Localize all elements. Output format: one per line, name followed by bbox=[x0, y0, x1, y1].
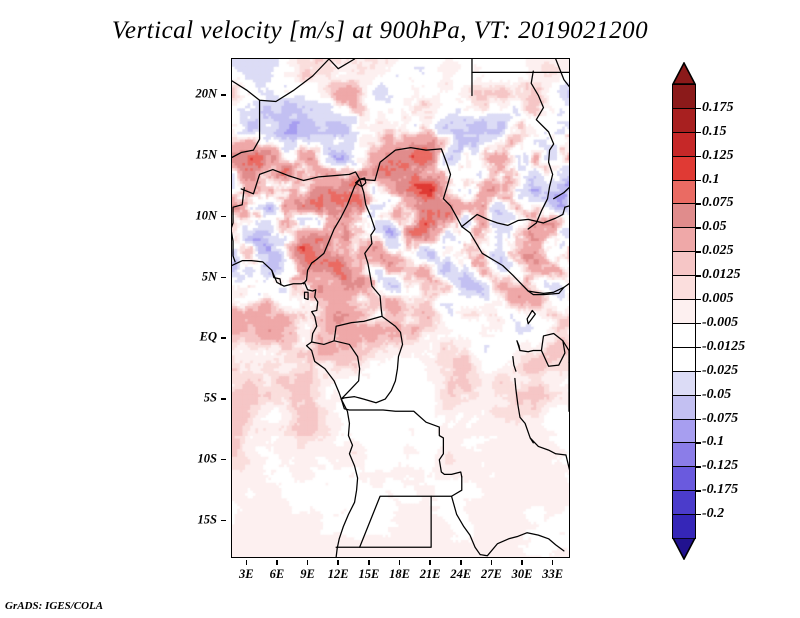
ytick-mark bbox=[221, 459, 226, 461]
xtick-label-30e: 30E bbox=[512, 567, 533, 582]
colorbar-band bbox=[672, 514, 696, 539]
ytick-label-20n: 20N bbox=[195, 87, 217, 102]
xtick-mark bbox=[399, 560, 401, 565]
colorbar-tick-label: 0.005 bbox=[702, 291, 734, 307]
xtick-label-18e: 18E bbox=[389, 567, 410, 582]
page-title: Vertical velocity [m/s] at 900hPa, VT: 2… bbox=[0, 17, 760, 45]
colorbar-band bbox=[672, 156, 696, 181]
colorbar-band bbox=[672, 203, 696, 228]
colorbar-band bbox=[672, 347, 696, 372]
country-border-line bbox=[452, 496, 481, 554]
colorbar-band bbox=[672, 275, 696, 300]
colorbar-band bbox=[672, 395, 696, 420]
country-border-line bbox=[462, 207, 565, 226]
country-border-line bbox=[232, 188, 244, 262]
country-border-line bbox=[556, 59, 569, 168]
colorbar-band bbox=[672, 490, 696, 515]
colorbar-band bbox=[672, 251, 696, 276]
colorbar-tick-mark bbox=[696, 299, 701, 300]
colorbar-tick-mark bbox=[696, 514, 701, 515]
colorbar-tick-mark bbox=[696, 156, 701, 157]
colorbar-tick-mark bbox=[696, 132, 701, 133]
ytick-label-10n: 10N bbox=[195, 208, 217, 223]
country-border-line bbox=[515, 378, 533, 442]
colorbar-tick-mark bbox=[696, 466, 701, 467]
xtick-mark bbox=[491, 560, 493, 565]
colorbar-tick-label: -0.075 bbox=[702, 411, 738, 427]
country-border-line bbox=[329, 59, 355, 69]
chart-root: Vertical velocity [m/s] at 900hPa, VT: 2… bbox=[0, 0, 800, 618]
country-border-line bbox=[530, 438, 566, 455]
colorbar-tick-label: 0.1 bbox=[702, 172, 720, 188]
xtick-label-15e: 15E bbox=[358, 567, 379, 582]
xtick-label-21e: 21E bbox=[420, 567, 441, 582]
colorbar-tick-mark bbox=[696, 419, 701, 420]
x-axis: 3E6E9E12E15E18E21E24E27E30E33E bbox=[231, 560, 568, 580]
country-border-line bbox=[541, 334, 564, 367]
ytick-label-15n: 15N bbox=[195, 148, 217, 163]
colorbar-tick-mark bbox=[696, 395, 701, 396]
colorbar-band bbox=[672, 323, 696, 348]
colorbar-tick-mark bbox=[696, 251, 701, 252]
colorbar-tick-label: 0.15 bbox=[702, 124, 727, 140]
xtick-mark bbox=[521, 560, 523, 565]
country-border-line bbox=[305, 292, 309, 299]
xtick-mark bbox=[337, 560, 339, 565]
country-border-line bbox=[336, 399, 357, 557]
colorbar-tick-mark bbox=[696, 323, 701, 324]
xtick-mark bbox=[368, 560, 370, 565]
ytick-label-eq: EQ bbox=[200, 330, 217, 345]
colorbar-tick-label: -0.005 bbox=[702, 315, 738, 331]
xtick-label-24e: 24E bbox=[450, 567, 471, 582]
xtick-mark bbox=[307, 560, 309, 565]
colorbar-tick-mark bbox=[696, 371, 701, 372]
colorbar-tick-label: 0.125 bbox=[702, 148, 734, 164]
country-border-line bbox=[312, 341, 360, 399]
country-border-line bbox=[303, 179, 359, 283]
colorbar-tick-mark bbox=[696, 203, 701, 204]
colorbar-tick-mark bbox=[696, 275, 701, 276]
country-border-line bbox=[517, 341, 520, 351]
colorbar-tick-label: 0.175 bbox=[702, 100, 734, 116]
colorbar-tick-label: 0.025 bbox=[702, 243, 734, 259]
colorbar-tick-label: 0.0125 bbox=[702, 267, 741, 283]
colorbar-band bbox=[672, 84, 696, 109]
colorbar-tick-mark bbox=[696, 227, 701, 228]
colorbar-band bbox=[672, 442, 696, 467]
country-border-line bbox=[232, 100, 260, 157]
colorbar-tick-label: -0.125 bbox=[702, 458, 738, 474]
country-border-line bbox=[565, 206, 569, 207]
ytick-mark bbox=[221, 155, 226, 157]
ytick-mark bbox=[221, 337, 226, 339]
colorbar-band bbox=[672, 371, 696, 396]
country-border-line bbox=[472, 59, 569, 72]
colorbar-tick-label: -0.1 bbox=[702, 434, 724, 450]
xtick-label-27e: 27E bbox=[481, 567, 502, 582]
ytick-mark bbox=[221, 94, 226, 96]
country-border-line bbox=[232, 59, 329, 102]
country-border-line bbox=[241, 170, 359, 194]
country-border-line bbox=[232, 261, 341, 399]
ytick-label-15s: 15S bbox=[198, 512, 217, 527]
ytick-label-5n: 5N bbox=[202, 269, 217, 284]
ytick-mark bbox=[221, 216, 226, 218]
ytick-mark bbox=[221, 398, 226, 400]
colorbar-band bbox=[672, 419, 696, 444]
xtick-mark bbox=[246, 560, 248, 565]
colorbar-tick-label: -0.175 bbox=[702, 482, 738, 498]
colorbar-tick-mark bbox=[696, 180, 701, 181]
colorbar-tick-label: -0.025 bbox=[702, 363, 738, 379]
y-axis: 20N15N10N5NEQ5S10S15S bbox=[186, 58, 226, 556]
colorbar-tick-label: 0.05 bbox=[702, 219, 727, 235]
colorbar-tick-label: -0.0125 bbox=[702, 339, 745, 355]
country-border-line bbox=[341, 179, 402, 402]
xtick-mark bbox=[429, 560, 431, 565]
colorbar-band bbox=[672, 299, 696, 324]
xtick-label-12e: 12E bbox=[328, 567, 349, 582]
xtick-label-3e: 3E bbox=[239, 567, 254, 582]
colorbar-tick-mark bbox=[696, 490, 701, 491]
country-border-line bbox=[341, 399, 462, 477]
colorbar-band bbox=[672, 180, 696, 205]
country-border-line bbox=[336, 477, 462, 547]
country-border-line bbox=[480, 533, 564, 556]
colorbar-tick-mark bbox=[696, 108, 701, 109]
colorbar-tick-label: -0.05 bbox=[702, 387, 731, 403]
xtick-mark bbox=[460, 560, 462, 565]
colorbar-tick-label: 0.075 bbox=[702, 195, 734, 211]
colorbar-band bbox=[672, 466, 696, 491]
colorbar-band bbox=[672, 108, 696, 133]
colorbar-bottom-arrow bbox=[672, 538, 696, 560]
country-border-line bbox=[334, 317, 381, 341]
xtick-label-9e: 9E bbox=[300, 567, 315, 582]
ytick-label-5s: 5S bbox=[204, 391, 217, 406]
colorbar-tick-mark bbox=[696, 442, 701, 443]
ytick-mark bbox=[221, 277, 226, 279]
map-plot-area bbox=[231, 58, 570, 558]
colorbar-top-arrow bbox=[672, 62, 696, 84]
xtick-mark bbox=[552, 560, 554, 565]
country-border-line bbox=[527, 310, 535, 323]
colorbar-band bbox=[672, 132, 696, 157]
country-border-line bbox=[520, 351, 541, 352]
country-borders-overlay bbox=[232, 59, 569, 557]
ytick-mark bbox=[221, 520, 226, 522]
colorbar-tick-mark bbox=[696, 347, 701, 348]
country-border-line bbox=[554, 188, 569, 199]
colorbar-band bbox=[672, 227, 696, 252]
xtick-label-6e: 6E bbox=[270, 567, 285, 582]
country-border-line bbox=[566, 455, 569, 513]
colorbar: 0.1750.150.1250.10.0750.050.0250.01250.0… bbox=[672, 62, 696, 560]
colorbar-tick-label: -0.2 bbox=[702, 506, 724, 522]
ytick-label-10s: 10S bbox=[198, 451, 217, 466]
footer-credit: GrADS: IGES/COLA bbox=[5, 600, 103, 612]
xtick-label-33e: 33E bbox=[542, 567, 563, 582]
country-border-line bbox=[513, 357, 516, 372]
xtick-mark bbox=[276, 560, 278, 565]
country-border-line bbox=[528, 71, 554, 229]
